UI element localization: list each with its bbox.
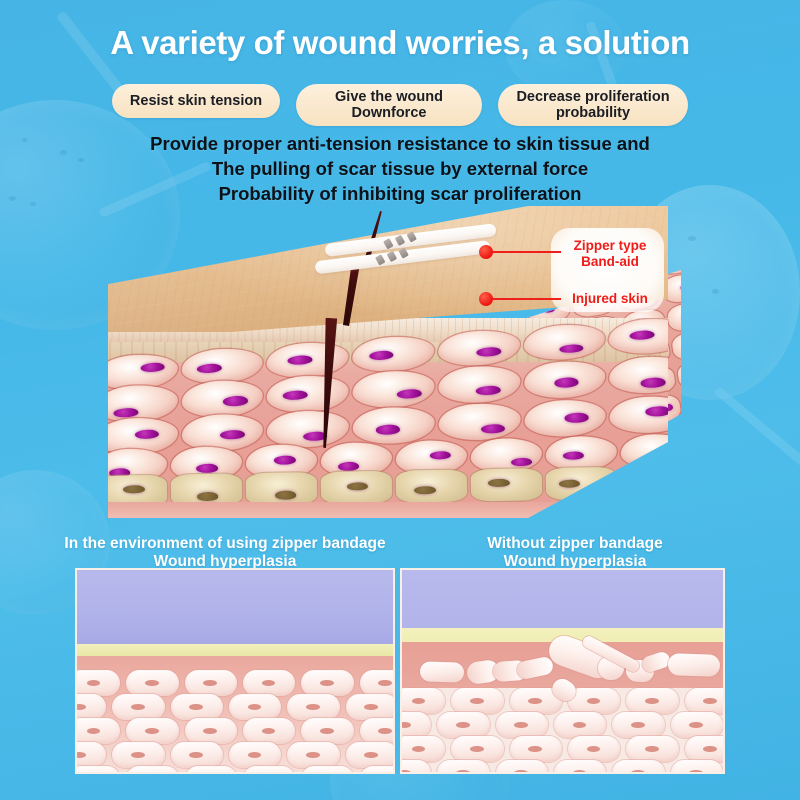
panel-cell <box>112 742 164 768</box>
cell-nucleus <box>563 451 585 460</box>
panel-cell <box>496 760 548 774</box>
cell-nucleus <box>196 464 218 473</box>
panel-cell <box>126 670 178 696</box>
cell-nucleus <box>659 481 668 490</box>
panel-cell <box>400 736 445 762</box>
panel-cell <box>301 766 353 774</box>
badge-label: Decrease proliferation probability <box>516 89 669 122</box>
badge-label-line2: probability <box>556 105 630 121</box>
panel-cell <box>229 694 281 720</box>
molecule-bond <box>713 386 800 483</box>
panel-cell <box>126 718 178 744</box>
panel-cell <box>671 760 723 774</box>
description-block: Provide proper anti-tension resistance t… <box>0 131 800 206</box>
speck <box>712 289 719 294</box>
cell-nucleus <box>288 355 313 366</box>
badge-label-line1: Give the wound <box>335 89 443 105</box>
epidermal-cell <box>671 330 681 362</box>
panel-cell <box>360 718 395 744</box>
panel-cell <box>437 712 489 738</box>
cell-nucleus <box>414 486 435 495</box>
cell-nucleus <box>347 482 368 491</box>
panel-cell <box>612 760 664 774</box>
basal-cell <box>246 472 318 505</box>
panel-cell <box>243 718 295 744</box>
epidermal-cell <box>666 301 681 333</box>
panel-cell <box>496 712 548 738</box>
panel-cell <box>554 712 606 738</box>
epidermal-cell <box>608 318 668 356</box>
badge-label: Give the wound Downforce <box>335 89 443 122</box>
cell-nucleus <box>559 343 584 354</box>
cell-nucleus <box>476 346 501 357</box>
badge-label: Resist skin tension <box>130 93 262 110</box>
cell-nucleus <box>651 452 668 461</box>
epidermal-cell <box>522 322 606 362</box>
panel-cell <box>301 718 353 744</box>
badge-give-the-wound-downforce[interactable]: Give the wound Downforce <box>296 84 482 126</box>
cell-nucleus <box>397 388 422 399</box>
epidermal-cell <box>351 334 435 374</box>
panel-cell <box>346 742 395 768</box>
epidermal-cell <box>677 358 681 390</box>
panel-cell <box>400 760 431 774</box>
caption-without-bandage: Without zipper bandage Wound hyperplasia <box>405 535 745 571</box>
cell-nucleus <box>282 390 307 401</box>
panel-cell <box>301 670 353 696</box>
panel-cell <box>229 742 281 768</box>
caption-with-bandage: In the environment of using zipper banda… <box>55 535 395 571</box>
panel-cell <box>171 694 223 720</box>
description-line-3: Probability of inhibiting scar prolifera… <box>0 181 800 206</box>
panel-cell <box>671 712 723 738</box>
cell-nucleus <box>564 413 589 423</box>
callout-line-1: Injured skin <box>572 291 648 306</box>
panel-cell <box>185 766 237 774</box>
panel-cell <box>451 688 503 714</box>
panel-cell <box>360 766 395 774</box>
cell-nucleus <box>274 456 296 465</box>
caption-line-1: Without zipper bandage <box>405 535 745 553</box>
panel-cell <box>685 688 725 714</box>
panel-cell <box>287 694 339 720</box>
panel-cell <box>243 670 295 696</box>
panel-cell <box>243 766 295 774</box>
panel-cell <box>510 736 562 762</box>
panel-cell <box>451 736 503 762</box>
basal-cell <box>321 471 393 504</box>
callout-label-zipper-bandaid: Zipper type Band-aid <box>555 238 665 270</box>
basal-cell <box>546 467 618 500</box>
cell-nucleus <box>680 282 681 292</box>
panel-cell <box>126 766 178 774</box>
badge-label-line2: Downforce <box>352 105 427 121</box>
panel-divider <box>395 568 400 774</box>
cell-nucleus <box>223 396 248 407</box>
epidermal-cell <box>609 355 668 396</box>
hyperplasia-cell <box>668 653 721 677</box>
cell-nucleus <box>303 431 328 441</box>
epidermal-cell <box>523 399 606 438</box>
epidermal-cell <box>352 406 435 445</box>
cell-nucleus <box>481 424 506 434</box>
cell-nucleus <box>641 377 666 388</box>
panel-cell <box>185 718 237 744</box>
epidermal-cell <box>523 359 607 400</box>
panel-cell <box>287 742 339 768</box>
badge-label-line1: Decrease proliferation <box>516 89 669 105</box>
epidermal-cell <box>609 395 668 434</box>
panel-cell <box>75 742 106 768</box>
skin-block-front-face <box>108 318 668 518</box>
epidermal-cell <box>438 402 521 441</box>
dermis-base-layer <box>108 502 668 518</box>
cell-nucleus <box>375 425 400 435</box>
cell-nucleus <box>113 407 138 418</box>
panel-cell <box>75 670 120 696</box>
cell-nucleus <box>554 377 579 388</box>
benefit-badge-row: Resist skin tension Give the wound Downf… <box>112 84 688 126</box>
badge-decrease-proliferation-probability[interactable]: Decrease proliferation probability <box>498 84 688 126</box>
panel-cell <box>112 694 164 720</box>
callout-marker-dot <box>479 292 493 306</box>
epidermal-cell <box>352 369 436 410</box>
description-line-2: The pulling of scar tissue by external f… <box>0 156 800 181</box>
cell-nucleus <box>369 350 394 361</box>
cell-nucleus <box>430 451 452 460</box>
epidermal-cell <box>545 435 617 471</box>
cell-nucleus <box>123 485 144 494</box>
panel-cell <box>75 694 106 720</box>
caption-line-1: In the environment of using zipper banda… <box>55 535 395 553</box>
description-line-1: Provide proper anti-tension resistance t… <box>0 131 800 156</box>
panel-cell <box>400 688 445 714</box>
callout-line-2: Band-aid <box>581 254 639 269</box>
cell-nucleus <box>476 385 501 396</box>
speck <box>688 236 696 241</box>
infographic-page: A variety of wound worries, a solution R… <box>0 0 800 800</box>
callout-line-1: Zipper type <box>574 238 647 253</box>
panel-cell <box>568 736 620 762</box>
basal-cell <box>396 469 468 502</box>
basal-cell <box>621 466 668 499</box>
panel-cell <box>554 760 606 774</box>
epidermal-cell <box>620 433 668 469</box>
callout-marker-dot <box>479 245 493 259</box>
panel-with-zipper-bandage <box>75 568 395 774</box>
cell-nucleus <box>559 479 580 488</box>
cell-nucleus <box>488 479 509 488</box>
panel-cell <box>185 670 237 696</box>
cell-nucleus <box>135 429 160 439</box>
cell-nucleus <box>275 491 296 500</box>
panel-background-band <box>75 568 395 646</box>
panel-cell <box>685 736 725 762</box>
panel-cell <box>400 712 431 738</box>
panel-cell <box>75 766 120 774</box>
cell-nucleus <box>338 462 360 471</box>
cell-nucleus <box>220 429 245 439</box>
panel-without-zipper-bandage <box>400 568 725 774</box>
cell-nucleus <box>630 330 655 341</box>
panel-cell <box>75 718 120 744</box>
callout-label-injured-skin: Injured skin <box>555 291 665 307</box>
page-title: A variety of wound worries, a solution <box>0 24 800 62</box>
cell-nucleus <box>140 362 165 373</box>
cell-nucleus <box>510 457 532 466</box>
panel-cell <box>626 688 678 714</box>
panel-cell <box>360 670 395 696</box>
epidermal-cell <box>437 364 521 405</box>
basal-cell <box>471 468 543 501</box>
panel-cell <box>437 760 489 774</box>
badge-resist-skin-tension[interactable]: Resist skin tension <box>112 84 280 118</box>
hyperplasia-cell <box>420 661 465 683</box>
epidermal-cell <box>437 328 521 368</box>
panel-cell <box>612 712 664 738</box>
panel-cell <box>171 742 223 768</box>
cell-nucleus <box>645 406 668 416</box>
callout-leader-line <box>487 298 561 300</box>
panel-cell <box>626 736 678 762</box>
cell-nucleus <box>197 363 222 374</box>
callout-leader-line <box>487 251 561 253</box>
cell-nucleus <box>197 492 218 501</box>
panel-cell <box>346 694 395 720</box>
epidermal-cell <box>266 374 350 415</box>
